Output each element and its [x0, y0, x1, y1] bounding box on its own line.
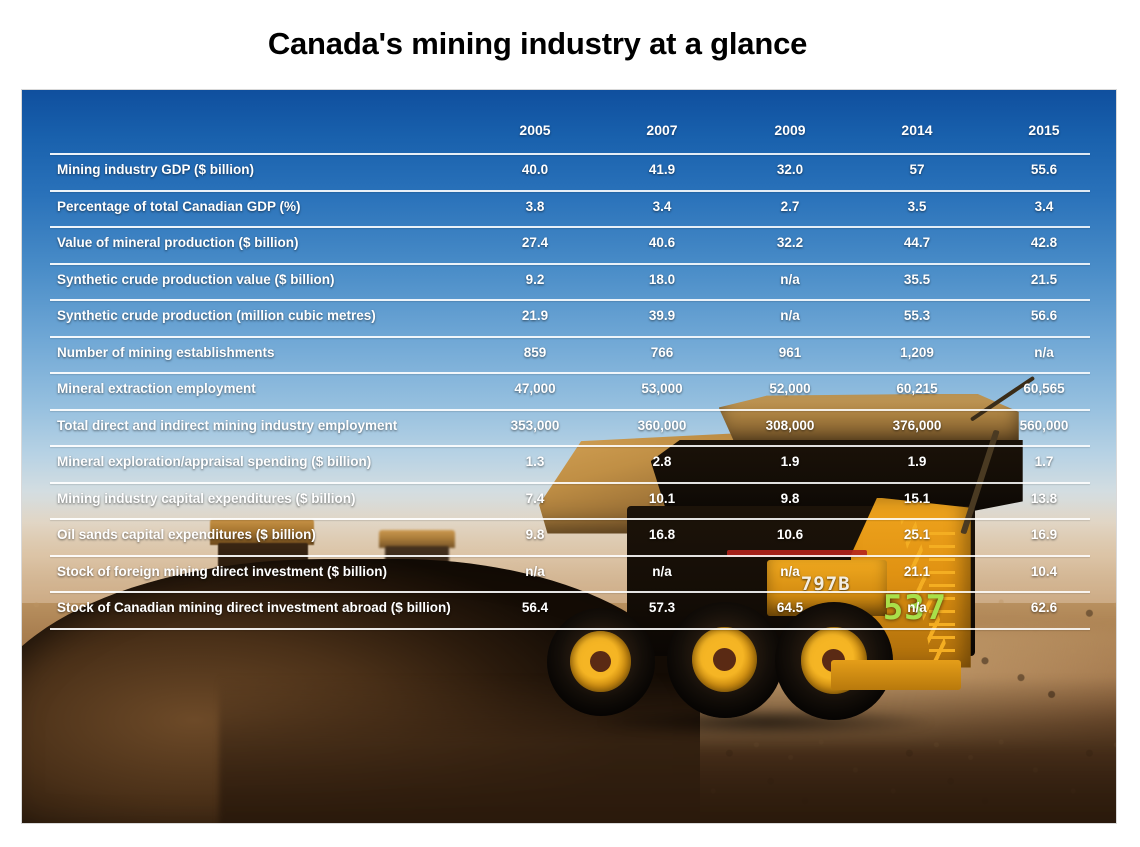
row-label: Mining industry GDP ($ billion) [57, 162, 457, 177]
table-cell: 10.1 [602, 491, 722, 506]
row-label: Synthetic crude production value ($ bill… [57, 272, 457, 287]
row-separator [50, 445, 1090, 447]
table-cell: 40.0 [475, 162, 595, 177]
table-cell: n/a [730, 308, 850, 323]
table-cell: 62.6 [984, 600, 1104, 615]
row-separator [50, 299, 1090, 301]
table-cell: 55.3 [857, 308, 977, 323]
row-separator [50, 555, 1090, 557]
table-cell: 21.5 [984, 272, 1104, 287]
row-separator [50, 226, 1090, 228]
table-cell: 2.8 [602, 454, 722, 469]
table-cell: n/a [857, 600, 977, 615]
table-cell: 56.6 [984, 308, 1104, 323]
row-label: Stock of foreign mining direct investmen… [57, 564, 457, 579]
table-cell: 16.9 [984, 527, 1104, 542]
page-title: Canada's mining industry at a glance [0, 26, 1075, 62]
table-cell: 308,000 [730, 418, 850, 433]
row-label: Oil sands capital expenditures ($ billio… [57, 527, 457, 542]
table-cell: 47,000 [475, 381, 595, 396]
infographic-panel: 521 797B 537 [22, 90, 1116, 823]
table-row: Stock of Canadian mining direct investme… [22, 591, 1116, 627]
table-cell: 15.1 [857, 491, 977, 506]
table-cell: n/a [984, 345, 1104, 360]
table-row: Oil sands capital expenditures ($ billio… [22, 518, 1116, 554]
table-cell: 42.8 [984, 235, 1104, 250]
table-cell: 53,000 [602, 381, 722, 396]
row-label: Synthetic crude production (million cubi… [57, 308, 457, 323]
row-label: Mining industry capital expenditures ($ … [57, 491, 457, 506]
row-label: Number of mining establishments [57, 345, 457, 360]
table-cell: 18.0 [602, 272, 722, 287]
table-row: Stock of foreign mining direct investmen… [22, 555, 1116, 591]
table-row: Percentage of total Canadian GDP (%)3.83… [22, 190, 1116, 226]
row-separator [50, 482, 1090, 484]
table-cell: n/a [730, 564, 850, 579]
table-cell: 1,209 [857, 345, 977, 360]
table-cell: 21.9 [475, 308, 595, 323]
table-cell: 13.8 [984, 491, 1104, 506]
column-header-2015: 2015 [984, 122, 1104, 138]
table-cell: 55.6 [984, 162, 1104, 177]
table-cell: 1.3 [475, 454, 595, 469]
table-header-row: 20052007200920142015 [22, 122, 1116, 148]
table-cell: 360,000 [602, 418, 722, 433]
table-cell: 9.2 [475, 272, 595, 287]
table-cell: 10.4 [984, 564, 1104, 579]
row-separator [50, 153, 1090, 155]
table-cell: 7.4 [475, 491, 595, 506]
table-cell: 3.8 [475, 199, 595, 214]
table-row: Number of mining establishments859766961… [22, 336, 1116, 372]
row-label: Mineral extraction employment [57, 381, 457, 396]
table-row: Synthetic crude production (million cubi… [22, 299, 1116, 335]
column-header-2009: 2009 [730, 122, 850, 138]
table-cell: 27.4 [475, 235, 595, 250]
table-cell: 21.1 [857, 564, 977, 579]
table-cell: 376,000 [857, 418, 977, 433]
table-cell: 56.4 [475, 600, 595, 615]
table-cell: 9.8 [730, 491, 850, 506]
table-row: Mining industry GDP ($ billion)40.041.93… [22, 153, 1116, 189]
column-header-2007: 2007 [602, 122, 722, 138]
table-cell: 9.8 [475, 527, 595, 542]
table-cell: 3.4 [984, 199, 1104, 214]
table-cell: 64.5 [730, 600, 850, 615]
row-separator [50, 628, 1090, 630]
table-cell: 961 [730, 345, 850, 360]
row-separator [50, 372, 1090, 374]
table-cell: 57.3 [602, 600, 722, 615]
column-header-2005: 2005 [475, 122, 595, 138]
table-row: Total direct and indirect mining industr… [22, 409, 1116, 445]
table-cell: n/a [475, 564, 595, 579]
table-cell: 41.9 [602, 162, 722, 177]
column-header-2014: 2014 [857, 122, 977, 138]
table-cell: 2.7 [730, 199, 850, 214]
table-cell: n/a [730, 272, 850, 287]
row-label: Percentage of total Canadian GDP (%) [57, 199, 457, 214]
row-label: Mineral exploration/appraisal spending (… [57, 454, 457, 469]
table-row: Value of mineral production ($ billion)2… [22, 226, 1116, 262]
table-cell: 10.6 [730, 527, 850, 542]
table-cell: n/a [602, 564, 722, 579]
table-cell: 40.6 [602, 235, 722, 250]
table-cell: 60,215 [857, 381, 977, 396]
table-cell: 3.4 [602, 199, 722, 214]
table-cell: 39.9 [602, 308, 722, 323]
table-row: Mineral extraction employment47,00053,00… [22, 372, 1116, 408]
row-separator [50, 190, 1090, 192]
table-cell: 52,000 [730, 381, 850, 396]
table-cell: 44.7 [857, 235, 977, 250]
table-cell: 16.8 [602, 527, 722, 542]
row-separator [50, 336, 1090, 338]
table-cell: 35.5 [857, 272, 977, 287]
table-cell: 859 [475, 345, 595, 360]
table-row: Mineral exploration/appraisal spending (… [22, 445, 1116, 481]
row-label: Total direct and indirect mining industr… [57, 418, 457, 433]
table-cell: 3.5 [857, 199, 977, 214]
table-row: Synthetic crude production value ($ bill… [22, 263, 1116, 299]
table-cell: 353,000 [475, 418, 595, 433]
table-cell: 560,000 [984, 418, 1104, 433]
table-cell: 60,565 [984, 381, 1104, 396]
row-separator [50, 409, 1090, 411]
row-label: Stock of Canadian mining direct investme… [57, 600, 457, 615]
table-bottom-rule [22, 628, 1116, 664]
table-cell: 1.9 [730, 454, 850, 469]
table-cell: 1.7 [984, 454, 1104, 469]
row-separator [50, 518, 1090, 520]
row-separator [50, 263, 1090, 265]
table-cell: 25.1 [857, 527, 977, 542]
table-row: Mining industry capital expenditures ($ … [22, 482, 1116, 518]
table-cell: 32.2 [730, 235, 850, 250]
row-separator [50, 591, 1090, 593]
table-cell: 32.0 [730, 162, 850, 177]
table-cell: 57 [857, 162, 977, 177]
row-label: Value of mineral production ($ billion) [57, 235, 457, 250]
table-cell: 766 [602, 345, 722, 360]
statistics-table: 20052007200920142015 Mining industry GDP… [22, 90, 1116, 823]
table-cell: 1.9 [857, 454, 977, 469]
